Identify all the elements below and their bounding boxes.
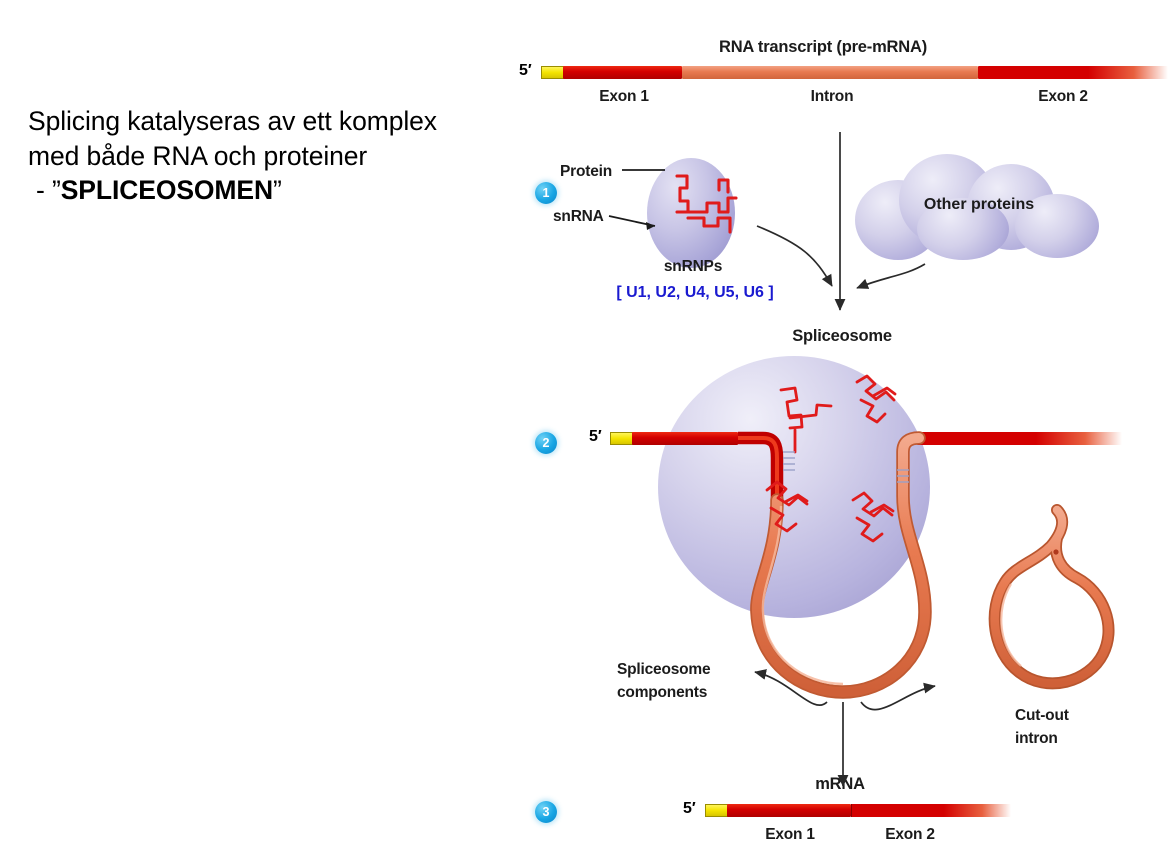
- mrna-exon-junction: [851, 804, 852, 817]
- caption-quote-close: ”: [273, 175, 282, 205]
- step-badge-3: 3: [535, 801, 557, 823]
- mrna-exon2-label: Exon 2: [885, 826, 935, 844]
- splicing-diagram: 1 2 3 RNA transcript (pre-mRNA) 5′ Exon …: [505, 0, 1174, 868]
- caption-line-3: - ”SPLICEOSOMEN”: [28, 173, 498, 208]
- caption-quote-open: - ”: [36, 175, 61, 205]
- other-proteins-label: Other proteins: [924, 196, 1034, 214]
- mrna-five-prime-cap: [705, 804, 729, 817]
- five-prime-cap: [541, 66, 565, 79]
- caption-spliceosomen: SPLICEOSOMEN: [61, 175, 273, 205]
- step-badge-1: 1: [535, 182, 557, 204]
- step-badge-2: 2: [535, 432, 557, 454]
- mrna-exon1-bar: [727, 804, 851, 817]
- spliceosome-components-label-line1: Spliceosome: [617, 661, 710, 679]
- step2-exon1-bar: [632, 432, 738, 445]
- snrnps-label: snRNPs: [664, 258, 722, 276]
- cutout-intron-label-line1: Cut-out: [1015, 707, 1069, 725]
- caption-line-1: Splicing katalyseras av ett komplex: [28, 104, 498, 139]
- cutout-intron-lariat: [995, 510, 1109, 683]
- transcript-five-prime-label: 5′: [519, 62, 532, 80]
- transcript-exon1-label: Exon 1: [599, 88, 649, 106]
- mrna-exon2-bar: [851, 804, 1011, 817]
- mrna-label: mRNA: [815, 775, 865, 794]
- snrnp-u-list: [ U1, U2, U4, U5, U6 ]: [616, 284, 773, 302]
- mrna-five-prime-label: 5′: [683, 800, 696, 818]
- product-arrows: [755, 672, 935, 786]
- transcript-exon2-label: Exon 2: [1038, 88, 1088, 106]
- transcript-intron-label: Intron: [811, 88, 854, 106]
- step2-exon2-bar: [917, 432, 1122, 445]
- mrna-exon1-label: Exon 1: [765, 826, 815, 844]
- snrna-label: snRNA: [553, 208, 604, 226]
- cutout-intron-label-line2: intron: [1015, 730, 1058, 748]
- snrnp-particle: [647, 158, 735, 268]
- spliceosome-complex: [658, 356, 930, 618]
- transcript-intron-bar: [682, 66, 978, 79]
- transcript-title: RNA transcript (pre-mRNA): [719, 38, 927, 57]
- slide-caption: Splicing katalyseras av ett komplex med …: [28, 104, 498, 208]
- spliceosome-label: Spliceosome: [792, 327, 892, 346]
- caption-line-2: med både RNA och proteiner: [28, 139, 498, 174]
- step2-five-prime-label: 5′: [589, 428, 602, 446]
- spliceosome-components-label-line2: components: [617, 684, 707, 702]
- step2-five-prime-cap: [610, 432, 634, 445]
- transcript-exon1-bar: [563, 66, 682, 79]
- other-proteins-cloud: Other proteins: [855, 152, 1103, 264]
- protein-label: Protein: [560, 163, 612, 181]
- transcript-exon2-bar: [978, 66, 1168, 79]
